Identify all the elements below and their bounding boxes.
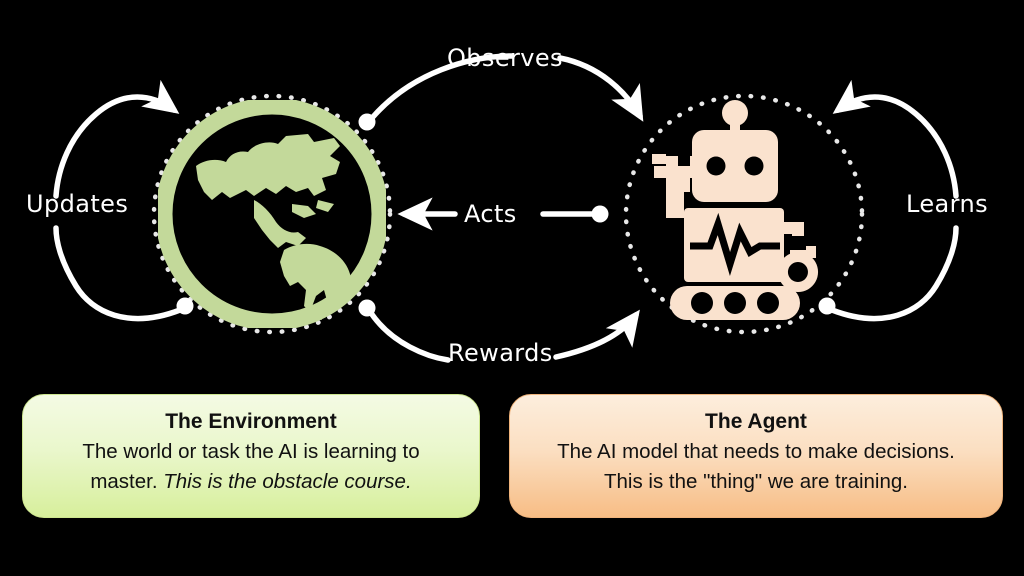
agent-node xyxy=(640,100,850,320)
agent-card-title: The Agent xyxy=(528,407,984,437)
globe-icon xyxy=(158,100,386,328)
agent-card: The Agent The AI model that needs to mak… xyxy=(509,394,1003,518)
arrow-label-rewards: Rewards xyxy=(448,339,553,367)
arrow-label-observes: Observes xyxy=(447,44,563,72)
environment-card-line2-italic: This is the obstacle course. xyxy=(163,470,411,493)
arrow-label-acts: Acts xyxy=(464,200,517,228)
environment-card-line2: master. This is the obstacle course. xyxy=(41,467,461,497)
environment-card: The Environment The world or task the AI… xyxy=(22,394,480,518)
robot-icon xyxy=(640,100,850,320)
environment-card-line2-plain: master. xyxy=(90,470,157,493)
agent-card-line2-italic: This is the "thing" we are training. xyxy=(528,467,984,497)
environment-card-line1: The world or task the AI is learning to xyxy=(41,437,461,467)
environment-node xyxy=(158,100,386,328)
arrow-label-updates: Updates xyxy=(26,190,128,218)
arrow-label-learns: Learns xyxy=(906,190,988,218)
environment-card-title: The Environment xyxy=(41,407,461,437)
diagram-canvas: Observes Acts Rewards Updates Learns xyxy=(0,0,1024,576)
agent-card-line1: The AI model that needs to make decision… xyxy=(528,437,984,467)
